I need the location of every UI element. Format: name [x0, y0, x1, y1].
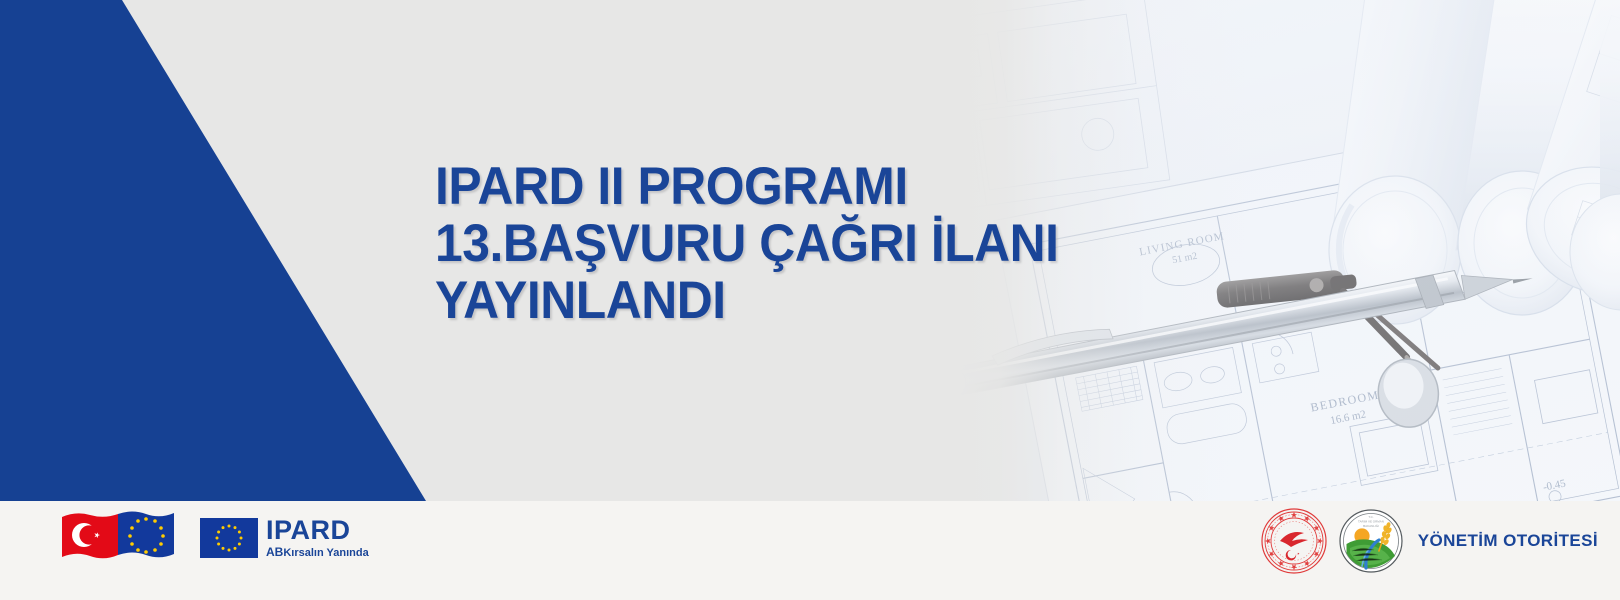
- footer-logo-bar: IPARD ABKırsalın Yanında: [0, 501, 1620, 600]
- agriculture-rural-development-seal: T.C. TARIM VE ORMAN BAKANLIĞI: [1338, 508, 1404, 574]
- hero-section: LIVING ROOM 51 m2 LIBRARY BEDROOM 16.6 m…: [0, 0, 1620, 501]
- ipard-tagline-rest: Kırsalın Yanında: [283, 547, 368, 559]
- blue-diagonal-wedge: [0, 0, 460, 501]
- ministry-of-agriculture-seal: [1260, 507, 1328, 575]
- ipard-announcement-banner: LIVING ROOM 51 m2 LIBRARY BEDROOM 16.6 m…: [0, 0, 1620, 600]
- footer-left-logos: IPARD ABKırsalın Yanında: [60, 509, 369, 567]
- page-title: IPARD II PROGRAMI 13.BAŞVURU ÇAĞRI İLANI…: [435, 158, 1059, 329]
- headline-line-1: IPARD II PROGRAMI: [435, 158, 1059, 215]
- ipard-tagline-ab: AB: [266, 545, 283, 559]
- svg-text:T.C.: T.C.: [1368, 515, 1374, 519]
- yonetim-otoritesi-label: YÖNETİM OTORİTESİ: [1418, 531, 1598, 551]
- headline-line-2: 13.BAŞVURU ÇAĞRI İLANI: [435, 215, 1059, 272]
- turkey-eu-flag-pair: [60, 509, 178, 567]
- svg-text:BAKANLIĞI: BAKANLIĞI: [1363, 523, 1379, 528]
- ipard-tagline: ABKırsalın Yanında: [266, 546, 369, 559]
- ipard-logo: IPARD ABKırsalın Yanında: [200, 517, 369, 559]
- footer-right-logos: T.C. TARIM VE ORMAN BAKANLIĞI YÖNETİM OT…: [1260, 507, 1598, 575]
- svg-text:TARIM VE ORMAN: TARIM VE ORMAN: [1358, 520, 1384, 524]
- headline-line-3: YAYINLANDI: [435, 272, 1059, 329]
- eu-flag-icon: [200, 518, 258, 558]
- ipard-wordmark: IPARD ABKırsalın Yanında: [266, 517, 369, 559]
- ipard-title: IPARD: [266, 517, 369, 544]
